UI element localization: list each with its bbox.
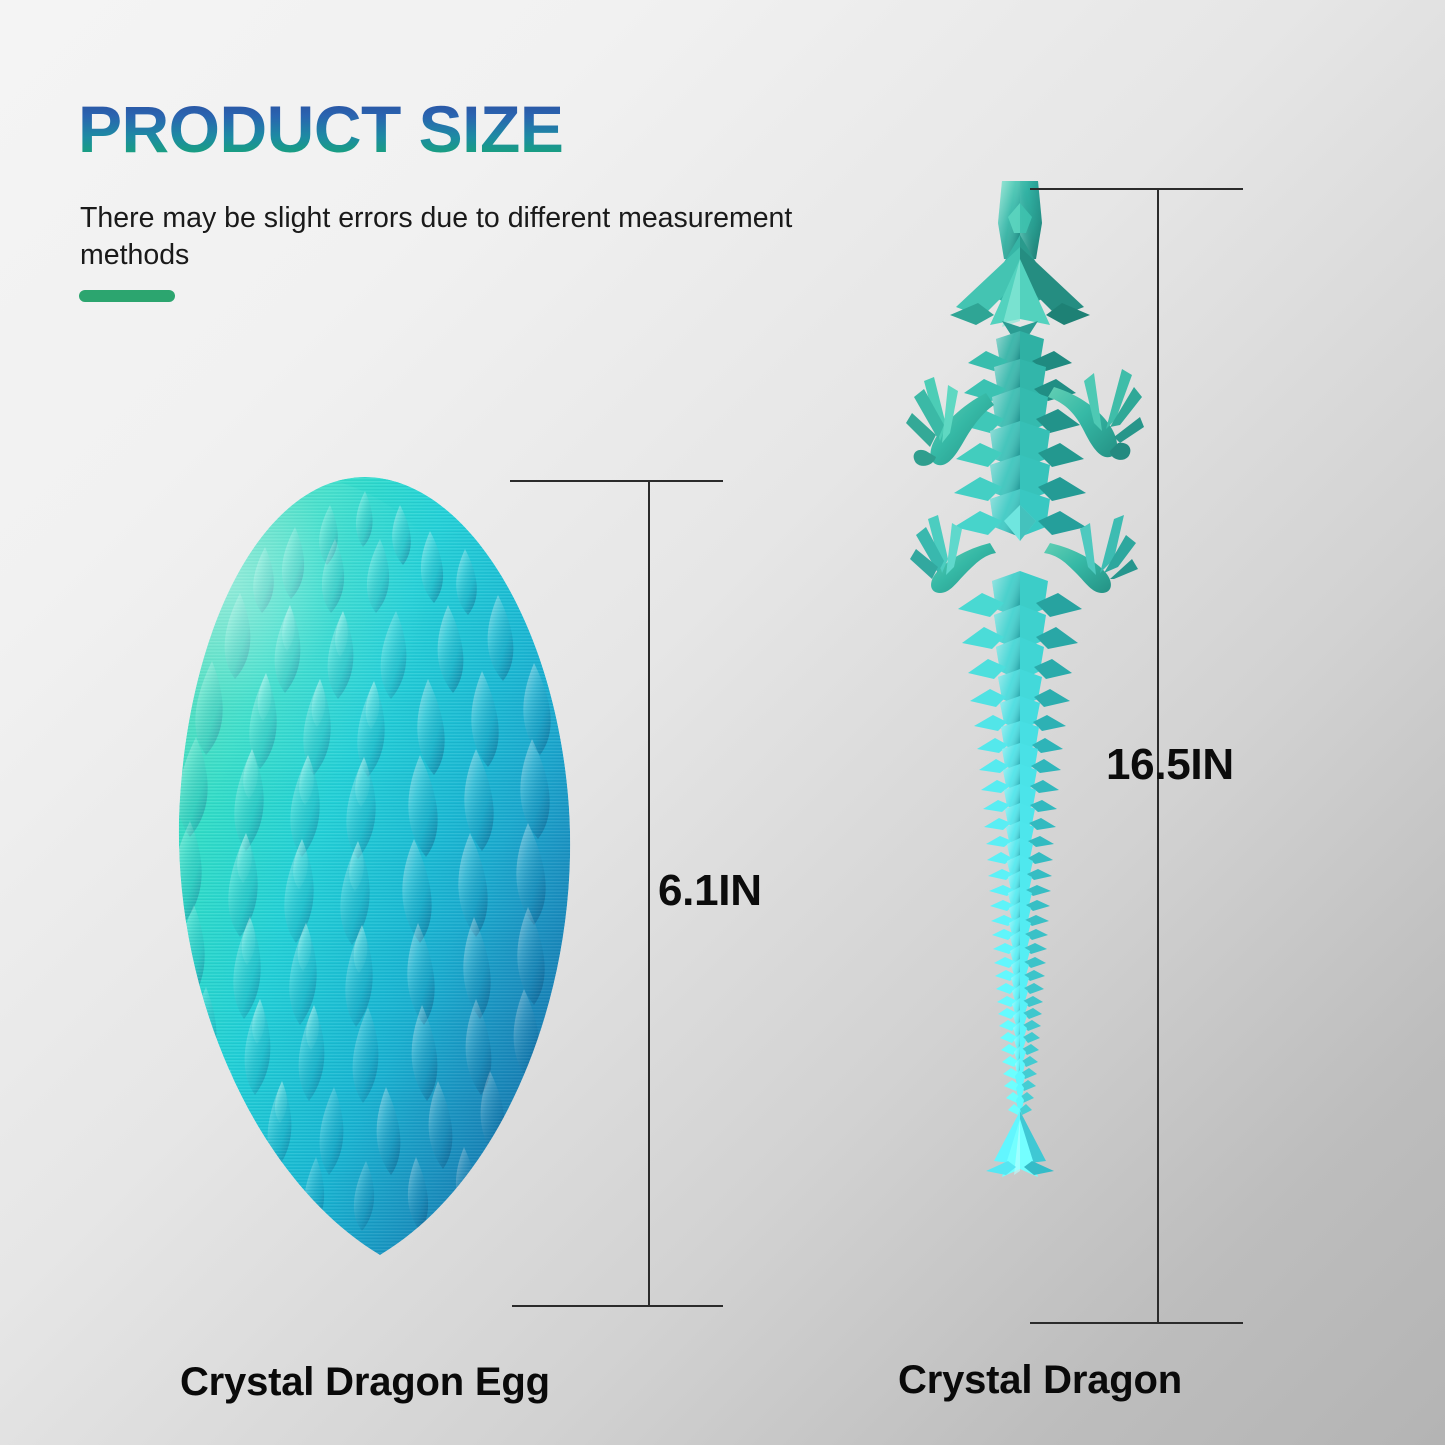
egg-dimension-label: 6.1IN [658, 866, 762, 916]
dragon-caption: Crystal Dragon [890, 1358, 1190, 1403]
dragon-bottom-guide-line [1030, 1322, 1243, 1324]
dragon-lower-body [958, 571, 1082, 681]
egg-dimension-line [648, 480, 650, 1305]
dragon-top-guide-line [1030, 188, 1243, 190]
egg-top-guide-line [510, 480, 723, 482]
dragon-head [950, 181, 1090, 349]
dragon-egg-figure [90, 465, 670, 1315]
infographic-canvas: PRODUCT SIZE There may be slight errors … [0, 0, 1445, 1445]
dragon-torso [954, 455, 1086, 541]
egg-bottom-guide-line [512, 1305, 723, 1307]
page-title: PRODUCT SIZE [78, 96, 563, 162]
dragon-tail [970, 669, 1070, 1177]
dragon-dimension-label: 16.5IN [1106, 740, 1234, 790]
page-subtitle: There may be slight errors due to differ… [80, 200, 870, 274]
accent-divider [79, 290, 175, 302]
egg-caption: Crystal Dragon Egg [180, 1360, 540, 1405]
dragon-tail-fin [986, 1111, 1054, 1177]
